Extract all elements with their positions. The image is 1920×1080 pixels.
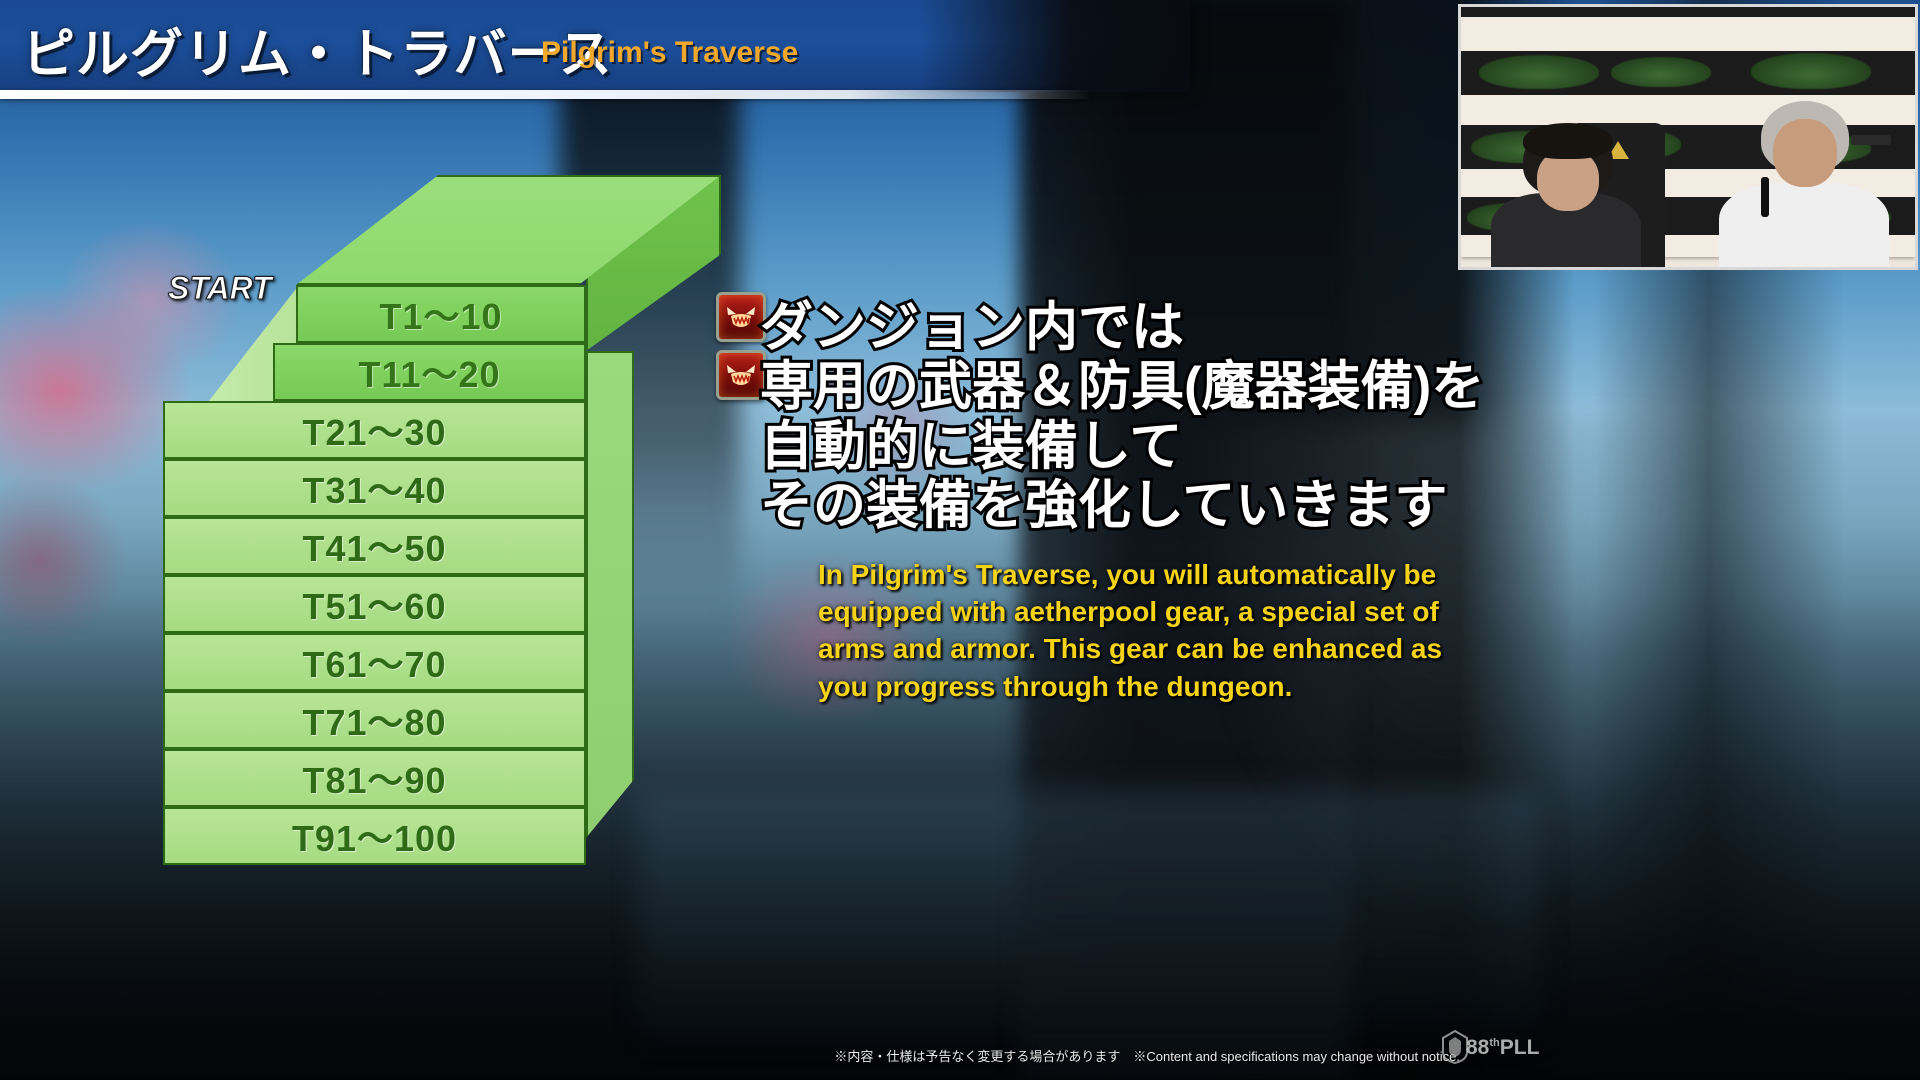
- description-en-line-2: equipped with aetherpool gear, a special…: [818, 593, 1498, 630]
- description-en: In Pilgrim's Traverse, you will automati…: [818, 556, 1498, 705]
- tier-row-8[interactable]: T71～80: [163, 691, 586, 749]
- watermark-label: 88thPLL: [1466, 1036, 1539, 1060]
- tier-label: T11～20: [275, 346, 584, 398]
- description-jp-line-4: その装備を強化していきます: [760, 476, 1580, 535]
- pip-person-right-body: [1719, 183, 1889, 270]
- tier-label: T31～40: [165, 462, 584, 514]
- tier-row-1[interactable]: T1～10: [296, 285, 586, 343]
- boss-monster-icon[interactable]: [716, 350, 766, 400]
- dungeon-tier-stack: T1～10 T11～20 T21～30 T31～40 T41～50 T51～60…: [163, 175, 763, 840]
- tier-label: T81～90: [165, 752, 584, 804]
- pip-person-left-fringe: [1523, 123, 1613, 159]
- pip-plant: [1611, 57, 1711, 87]
- watermark-number: 88: [1466, 1036, 1489, 1059]
- pip-plant: [1479, 55, 1599, 89]
- pip-headset-icon: [1851, 135, 1891, 145]
- boss-monster-icon[interactable]: [716, 292, 766, 342]
- description-jp-line-2: 専用の武器＆防具(魔器装備)を: [760, 357, 1580, 416]
- tier-label: T51～60: [165, 578, 584, 630]
- banner-underline: [0, 90, 1090, 99]
- description-en-line-3: arms and armor. This gear can be enhance…: [818, 630, 1498, 667]
- pip-room-background: [1461, 7, 1915, 267]
- tier-row-6[interactable]: T51～60: [163, 575, 586, 633]
- pip-ceiling: [1461, 7, 1915, 17]
- description-jp-line-1: ダンジョン内では: [760, 298, 1580, 357]
- background-water: [640, 790, 1540, 1040]
- tier-label: T41～50: [165, 520, 584, 572]
- tier-row-7[interactable]: T61～70: [163, 633, 586, 691]
- tier-row-9[interactable]: T81～90: [163, 749, 586, 807]
- tier-row-4[interactable]: T31～40: [163, 459, 586, 517]
- watermark-ordinal: th: [1489, 1037, 1499, 1049]
- tier-row-10[interactable]: T91～100: [163, 807, 586, 865]
- tier-row-3[interactable]: T21～30: [163, 401, 586, 459]
- watermark-suffix: PLL: [1500, 1036, 1540, 1059]
- tier-row-2[interactable]: T11～20: [273, 343, 586, 401]
- tier-row-5[interactable]: T41～50: [163, 517, 586, 575]
- slide-stage: ピルグリム・トラバース Pilgrim's Traverse T1～10 T11…: [0, 0, 1920, 1080]
- page-title-jp: ピルグリム・トラバース: [22, 12, 613, 88]
- description-en-line-1: In Pilgrim's Traverse, you will automati…: [818, 556, 1498, 593]
- pip-plant: [1751, 53, 1871, 89]
- tier-label: T71～80: [165, 694, 584, 746]
- description-jp-line-3: 自動的に装備して: [760, 417, 1580, 476]
- description-jp: ダンジョン内では 専用の武器＆防具(魔器装備)を 自動的に装備して その装備を強…: [760, 298, 1580, 535]
- tier-label: T61～70: [165, 636, 584, 688]
- pip-shelf-1: [1461, 17, 1915, 51]
- disclaimer-text: ※内容・仕様は予告なく変更する場合があります ※Content and spec…: [0, 1046, 1460, 1065]
- page-title-en: Pilgrim's Traverse: [541, 36, 798, 70]
- banner-fade: [920, 0, 1190, 92]
- description-en-line-4: you progress through the dungeon.: [818, 668, 1498, 705]
- pip-microphone-icon: [1761, 177, 1769, 217]
- tier-label: T1～10: [298, 288, 584, 340]
- tier-label: T91～100: [165, 810, 584, 862]
- pip-shelf-2: [1461, 95, 1915, 125]
- pip-person-right-face: [1773, 119, 1837, 187]
- start-label: START: [168, 270, 272, 307]
- tier-label: T21～30: [165, 404, 584, 456]
- stack-right-face-lower: [586, 351, 634, 838]
- webcam-pip[interactable]: [1458, 4, 1918, 270]
